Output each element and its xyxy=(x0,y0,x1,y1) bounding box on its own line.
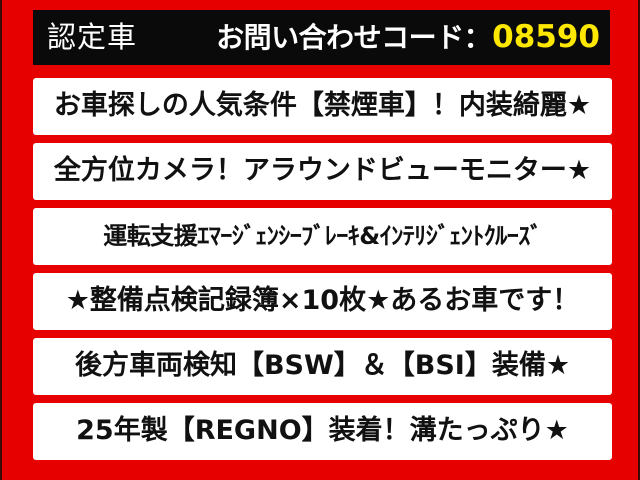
feature-row: 全方位カメラ！アラウンドビューモニター★ xyxy=(33,143,612,200)
feature-text: お車探しの人気条件【禁煙車】！内装綺麗★ xyxy=(54,92,591,120)
inquiry-code-value: 08590 xyxy=(492,22,600,53)
inquiry-code-label: お問い合わせコード： xyxy=(216,24,491,52)
promo-banner: 認定車 お問い合わせコード： 08590 お車探しの人気条件【禁煙車】！内装綺麗… xyxy=(0,0,640,480)
header-bar: 認定車 お問い合わせコード： 08590 xyxy=(33,10,610,65)
feature-text: 全方位カメラ！アラウンドビューモニター★ xyxy=(54,157,591,185)
feature-row: 25年製【REGNO】装着！溝たっぷり★ xyxy=(33,403,612,460)
feature-row: 運転支援ｴﾏｰｼﾞｪﾝｼｰﾌﾞﾚｰｷ&ｲﾝﾃﾘｼﾞｪﾝﾄｸﾙｰｽﾞ xyxy=(33,208,612,265)
feature-text: 運転支援ｴﾏｰｼﾞｪﾝｼｰﾌﾞﾚｰｷ&ｲﾝﾃﾘｼﾞｪﾝﾄｸﾙｰｽﾞ xyxy=(103,224,541,249)
certified-car-badge: 認定車 xyxy=(47,23,137,52)
feature-text: 後方車両検知【BSW】＆【BSI】装備★ xyxy=(75,352,570,380)
feature-row: お車探しの人気条件【禁煙車】！内装綺麗★ xyxy=(33,78,612,135)
feature-text: ★整備点検記録簿×10枚★あるお車です！ xyxy=(66,287,580,315)
feature-row: ★整備点検記録簿×10枚★あるお車です！ xyxy=(33,273,612,330)
feature-list: お車探しの人気条件【禁煙車】！内装綺麗★ 全方位カメラ！アラウンドビューモニター… xyxy=(33,78,612,468)
inquiry-code-group: お問い合わせコード： 08590 xyxy=(216,22,600,53)
feature-row: 後方車両検知【BSW】＆【BSI】装備★ xyxy=(33,338,612,395)
feature-text: 25年製【REGNO】装着！溝たっぷり★ xyxy=(76,417,569,445)
